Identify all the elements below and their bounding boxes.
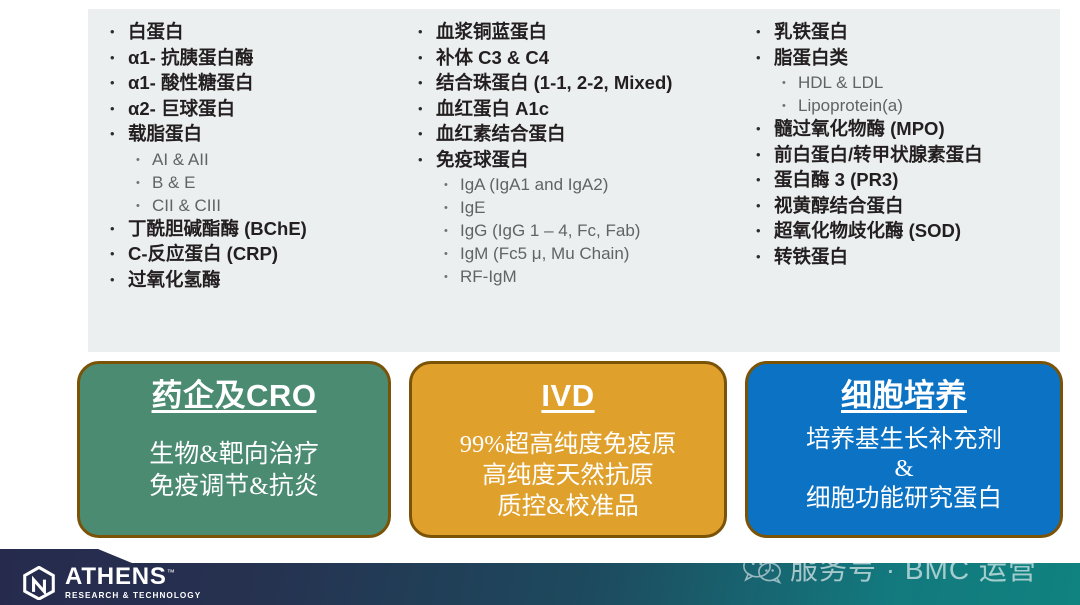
- bullet-icon: •: [756, 122, 774, 135]
- athens-hexagon-logo-icon: [22, 566, 56, 600]
- athens-logo: ATHENS™ RESEARCH & TECHNOLOGY: [22, 565, 201, 600]
- list-item-label: 血红蛋白 A1c: [436, 100, 549, 119]
- bullet-icon: •: [418, 127, 436, 140]
- list-item-label: α2- 巨球蛋白: [128, 100, 235, 119]
- list-item: •α1- 酸性糖蛋白: [110, 74, 406, 93]
- athens-logo-subtitle: RESEARCH & TECHNOLOGY: [65, 592, 201, 600]
- list-item: •脂蛋白类: [756, 49, 1050, 68]
- list-item: •AI & AII: [136, 151, 406, 168]
- bullet-icon: •: [110, 76, 128, 89]
- list-item-label: IgE: [460, 199, 486, 216]
- list-item-label: 免疫球蛋白: [436, 151, 529, 170]
- list-item: •血红素结合蛋白: [418, 125, 740, 144]
- bullet-icon: •: [756, 199, 774, 212]
- list-item-label: α1- 抗胰蛋白酶: [128, 49, 253, 68]
- category-body-ivd: 99%超高纯度免疫原高纯度天然抗原质控&校准品: [412, 429, 724, 523]
- category-title-ivd: IVD: [412, 378, 724, 415]
- list-item: •免疫球蛋白: [418, 151, 740, 170]
- list-item: •C-反应蛋白 (CRP): [110, 245, 406, 264]
- list-item-label: HDL & LDL: [798, 74, 883, 91]
- list-item-label: CII & CIII: [152, 197, 221, 214]
- list-item-label: 白蛋白: [128, 23, 184, 42]
- list-item-label: IgG (IgG 1 – 4, Fc, Fab): [460, 222, 640, 239]
- trademark-symbol: ™: [167, 568, 176, 577]
- list-item-label: 过氧化氢酶: [128, 271, 221, 290]
- list-item-label: 超氧化物歧化酶 (SOD): [774, 222, 961, 241]
- list-item-label: 载脂蛋白: [128, 125, 202, 144]
- protein-list-3: •乳铁蛋白•脂蛋白类•HDL & LDL•Lipoprotein(a)•髓过氧化…: [756, 23, 1050, 266]
- list-item-label: 结合珠蛋白 (1-1, 2-2, Mixed): [436, 74, 672, 93]
- protein-column-3: •乳铁蛋白•脂蛋白类•HDL & LDL•Lipoprotein(a)•髓过氧化…: [740, 23, 1050, 352]
- list-item: •Lipoprotein(a): [782, 97, 1050, 114]
- bullet-icon: •: [756, 51, 774, 64]
- athens-logo-text: ATHENS™ RESEARCH & TECHNOLOGY: [65, 565, 201, 600]
- bullet-icon: •: [756, 25, 774, 38]
- protein-column-1: •白蛋白•α1- 抗胰蛋白酶•α1- 酸性糖蛋白•α2- 巨球蛋白•载脂蛋白•A…: [88, 23, 406, 352]
- list-item: •血浆铜蓝蛋白: [418, 23, 740, 42]
- list-item: •HDL & LDL: [782, 74, 1050, 91]
- list-item-label: 蛋白酶 3 (PR3): [774, 171, 898, 190]
- list-item-label: C-反应蛋白 (CRP): [128, 245, 278, 264]
- list-item-label: 转铁蛋白: [774, 248, 848, 267]
- bullet-icon: •: [136, 201, 152, 212]
- category-body-pharma-cro: 生物&靶向治疗免疫调节&抗炎: [80, 439, 388, 503]
- category-title-cell-culture: 细胞培养: [748, 378, 1060, 415]
- category-title-pharma-cro: 药企及CRO: [80, 378, 388, 415]
- protein-list-2: •血浆铜蓝蛋白•补体 C3 & C4•结合珠蛋白 (1-1, 2-2, Mixe…: [418, 23, 740, 285]
- bullet-icon: •: [444, 203, 460, 214]
- bullet-icon: •: [110, 102, 128, 115]
- list-item: •α1- 抗胰蛋白酶: [110, 49, 406, 68]
- bullet-icon: •: [444, 249, 460, 260]
- list-item-label: 乳铁蛋白: [774, 23, 848, 42]
- bullet-icon: •: [110, 247, 128, 260]
- category-box-pharma-cro[interactable]: 药企及CRO 生物&靶向治疗免疫调节&抗炎: [77, 361, 391, 538]
- category-box-cell-culture[interactable]: 细胞培养 培养基生长补充剂&细胞功能研究蛋白: [745, 361, 1063, 538]
- list-item: •血红蛋白 A1c: [418, 100, 740, 119]
- list-item: •IgM (Fc5 μ, Mu Chain): [444, 245, 740, 262]
- bullet-icon: •: [756, 224, 774, 237]
- list-item: •髓过氧化物酶 (MPO): [756, 120, 1050, 139]
- category-boxes: 药企及CRO 生物&靶向治疗免疫调节&抗炎 IVD 99%超高纯度免疫原高纯度天…: [0, 361, 1080, 541]
- bullet-icon: •: [444, 180, 460, 191]
- list-item: •白蛋白: [110, 23, 406, 42]
- list-item-label: 丁酰胆碱酯酶 (BChE): [128, 220, 307, 239]
- bullet-icon: •: [110, 273, 128, 286]
- list-item: •转铁蛋白: [756, 248, 1050, 267]
- list-item-label: 脂蛋白类: [774, 49, 848, 68]
- list-item-label: 髓过氧化物酶 (MPO): [774, 120, 945, 139]
- list-item: •B & E: [136, 174, 406, 191]
- list-item: •视黄醇结合蛋白: [756, 197, 1050, 216]
- bullet-icon: •: [782, 101, 798, 112]
- bullet-icon: •: [782, 78, 798, 89]
- bullet-icon: •: [418, 25, 436, 38]
- list-item: •乳铁蛋白: [756, 23, 1050, 42]
- list-item: •载脂蛋白: [110, 125, 406, 144]
- list-item: •RF-IgM: [444, 268, 740, 285]
- bullet-icon: •: [756, 173, 774, 186]
- list-item: •IgG (IgG 1 – 4, Fc, Fab): [444, 222, 740, 239]
- protein-column-2: •血浆铜蓝蛋白•补体 C3 & C4•结合珠蛋白 (1-1, 2-2, Mixe…: [406, 23, 740, 352]
- list-item: •前白蛋白/转甲状腺素蛋白: [756, 146, 1050, 165]
- list-item: •IgE: [444, 199, 740, 216]
- protein-list-panel: •白蛋白•α1- 抗胰蛋白酶•α1- 酸性糖蛋白•α2- 巨球蛋白•载脂蛋白•A…: [88, 9, 1060, 352]
- list-item-label: 前白蛋白/转甲状腺素蛋白: [774, 146, 983, 165]
- category-body-cell-culture: 培养基生长补充剂&细胞功能研究蛋白: [748, 425, 1060, 515]
- protein-list-1: •白蛋白•α1- 抗胰蛋白酶•α1- 酸性糖蛋白•α2- 巨球蛋白•载脂蛋白•A…: [110, 23, 406, 289]
- list-item: •结合珠蛋白 (1-1, 2-2, Mixed): [418, 74, 740, 93]
- list-item-label: 血红素结合蛋白: [436, 125, 566, 144]
- list-item-label: α1- 酸性糖蛋白: [128, 74, 253, 93]
- list-item-label: 视黄醇结合蛋白: [774, 197, 904, 216]
- bullet-icon: •: [418, 153, 436, 166]
- bullet-icon: •: [110, 222, 128, 235]
- list-item-label: IgM (Fc5 μ, Mu Chain): [460, 245, 629, 262]
- list-item: •超氧化物歧化酶 (SOD): [756, 222, 1050, 241]
- list-item: •过氧化氢酶: [110, 271, 406, 290]
- list-item-label: 补体 C3 & C4: [436, 49, 549, 68]
- athens-logo-wordmark: ATHENS™: [65, 565, 201, 589]
- list-item-label: Lipoprotein(a): [798, 97, 903, 114]
- list-item-label: AI & AII: [152, 151, 209, 168]
- bullet-icon: •: [418, 76, 436, 89]
- bullet-icon: •: [110, 127, 128, 140]
- list-item: •补体 C3 & C4: [418, 49, 740, 68]
- bullet-icon: •: [110, 51, 128, 64]
- list-item: •α2- 巨球蛋白: [110, 100, 406, 119]
- bullet-icon: •: [756, 250, 774, 263]
- bullet-icon: •: [136, 155, 152, 166]
- protein-sublist: •IgA (IgA1 and IgA2)•IgE•IgG (IgG 1 – 4,…: [444, 176, 740, 285]
- list-item: •丁酰胆碱酯酶 (BChE): [110, 220, 406, 239]
- bullet-icon: •: [444, 272, 460, 283]
- list-item: •IgA (IgA1 and IgA2): [444, 176, 740, 193]
- protein-sublist: •AI & AII•B & E•CII & CIII: [136, 151, 406, 214]
- bullet-icon: •: [444, 226, 460, 237]
- bullet-icon: •: [110, 25, 128, 38]
- list-item-label: 血浆铜蓝蛋白: [436, 23, 547, 42]
- list-item-label: IgA (IgA1 and IgA2): [460, 176, 608, 193]
- list-item-label: RF-IgM: [460, 268, 517, 285]
- list-item-label: B & E: [152, 174, 195, 191]
- list-item: •CII & CIII: [136, 197, 406, 214]
- bullet-icon: •: [136, 178, 152, 189]
- bullet-icon: •: [418, 51, 436, 64]
- protein-sublist: •HDL & LDL•Lipoprotein(a): [782, 74, 1050, 114]
- slide-root: •白蛋白•α1- 抗胰蛋白酶•α1- 酸性糖蛋白•α2- 巨球蛋白•载脂蛋白•A…: [0, 0, 1080, 605]
- bullet-icon: •: [418, 102, 436, 115]
- list-item: •蛋白酶 3 (PR3): [756, 171, 1050, 190]
- category-box-ivd[interactable]: IVD 99%超高纯度免疫原高纯度天然抗原质控&校准品: [409, 361, 727, 538]
- bullet-icon: •: [756, 148, 774, 161]
